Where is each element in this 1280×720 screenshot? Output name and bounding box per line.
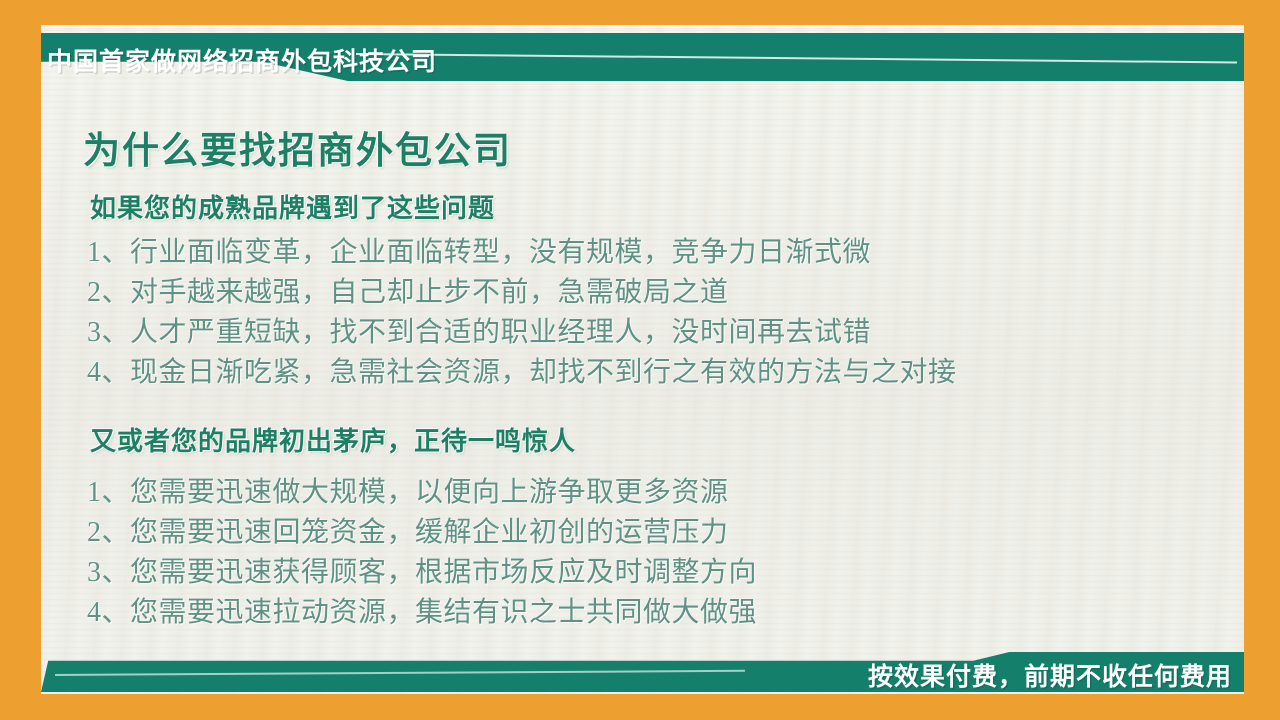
section-heading-2: 又或者您的品牌初出茅庐，正待一鸣惊人 [90,421,576,458]
list-item: 2、对手越来越强，自己却止步不前，急需破局之道 [87,273,957,313]
list-item: 4、您需要迅速拉动资源，集结有识之士共同做大做强 [87,593,757,633]
problem-list: 1、行业面临变革，企业面临转型，没有规模，竞争力日渐式微 2、对手越来越强，自己… [87,233,957,393]
list-item: 1、行业面临变革，企业面临转型，没有规模，竞争力日渐式微 [87,233,957,273]
page-title: 为什么要找招商外包公司 [83,120,512,174]
needs-list: 1、您需要迅速做大规模，以便向上游争取更多资源 2、您需要迅速回笼资金，缓解企业… [87,473,757,633]
list-item: 1、您需要迅速做大规模，以便向上游争取更多资源 [87,473,757,513]
list-item: 3、您需要迅速获得顾客，根据市场反应及时调整方向 [87,553,757,593]
slide-canvas: 中国首家做网络招商外包科技公司 为什么要找招商外包公司 如果您的成熟品牌遇到了这… [0,0,1280,720]
footer-slogan: 按效果付费，前期不收任何费用 [868,657,1232,693]
header-tagline: 中国首家做网络招商外包科技公司 [47,42,607,78]
list-item: 4、现金日渐吃紧，急需社会资源，却找不到行之有效的方法与之对接 [87,353,957,393]
section-heading-1: 如果您的成熟品牌遇到了这些问题 [90,188,495,225]
list-item: 3、人才严重短缺，找不到合适的职业经理人，没时间再去试错 [87,313,957,353]
list-item: 2、您需要迅速回笼资金，缓解企业初创的运营压力 [87,513,757,553]
